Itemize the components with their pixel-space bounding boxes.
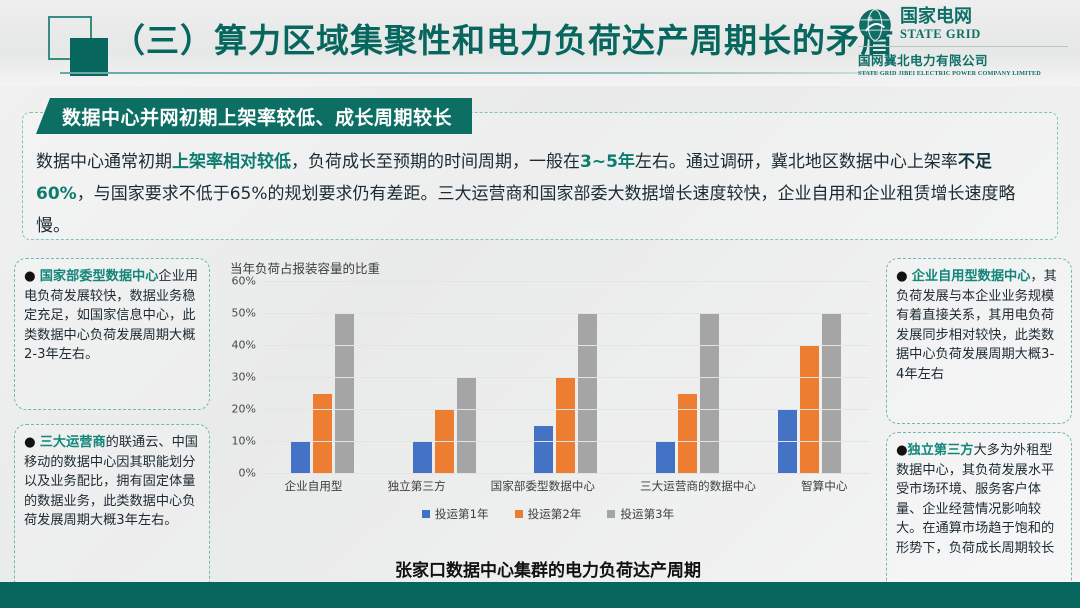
chart-bar: [335, 314, 354, 474]
company-logo: 国家电网 STATE GRID 国网冀北电力有限公司 STATE GRID JI…: [858, 8, 1068, 80]
chart-bar: [556, 378, 575, 474]
chart-bar-group: [656, 282, 719, 474]
para-seg-4: ，与国家要求不低于65%的规划要求仍有差距。三大运营商和国家部委大数据增长速度较…: [36, 184, 1016, 236]
chart-bar: [435, 410, 454, 474]
chart-y-tick-label: 40%: [232, 339, 256, 352]
para-highlight-4: 60%: [36, 184, 77, 204]
chart-gridline: 50%: [262, 313, 870, 314]
chart-legend-swatch: [515, 510, 523, 518]
chart-y-tick-label: 50%: [232, 307, 256, 320]
logo-company-en: STATE GRID: [900, 27, 981, 42]
callout-text: ● 三大运营商的联通云、中国移动的数据中心因其职能划分以及业务配比，拥有固定体量…: [24, 433, 200, 531]
chart-x-label: 企业自用型: [285, 478, 343, 494]
page-title: （三）算力区域集聚性和电力负荷达产周期长的矛盾: [112, 14, 894, 62]
chart-bar: [313, 394, 332, 474]
state-grid-globe-icon: [858, 8, 892, 42]
logo-company-cn: 国家电网: [900, 8, 981, 27]
logo-subsidiary-en: STATE GRID JIBEI ELECTRIC POWER COMPANY …: [858, 70, 1068, 77]
para-highlight-3: 不足: [958, 152, 992, 172]
callout-body: 大多为外租型数据中心，其负荷发展水平受市场环境、服务客户体量、企业经营情况影响较…: [896, 443, 1054, 556]
chart-bar: [291, 442, 310, 474]
chart-bar: [822, 314, 841, 474]
logo-divider: [858, 46, 1068, 47]
bullet-icon: ●: [24, 269, 36, 284]
para-seg-3: 左右。通过调研，冀北地区数据中心上架率: [635, 152, 958, 172]
chart-gridline: 20%: [262, 409, 870, 410]
bullet-icon: ●: [24, 435, 36, 450]
callout-box-national-ministry: ● 国家部委型数据中心企业用电负荷发展较快，数据业务稳定充足，如国家信息中心，此…: [14, 258, 210, 410]
chart-bar: [457, 378, 476, 474]
chart-bar-group: [413, 282, 476, 474]
callout-heading: 企业自用型数据中心: [912, 269, 1031, 284]
logo-subsidiary-cn: 国网冀北电力有限公司: [858, 50, 1068, 69]
callout-text: ● 企业自用型数据中心，其负荷发展与本企业业务规模有着直接关系，其用电负荷发展同…: [896, 267, 1062, 384]
chart-bar-group: [291, 282, 354, 474]
summary-paragraph: 数据中心通常初期上架率相对较低，负荷成长至预期的时间周期，一般在3~5年左右。通…: [36, 146, 1046, 242]
chart-plot-area: 0%10%20%30%40%50%60%: [262, 282, 870, 474]
chart-bar-group: [778, 282, 841, 474]
chart-legend-item[interactable]: 投运第1年: [422, 506, 489, 522]
chart-x-label: 独立第三方: [388, 478, 446, 494]
bar-chart: 当年负荷占报装容量的比重 0%10%20%30%40%50%60% 企业自用型独…: [216, 258, 880, 550]
chart-legend-label: 投运第2年: [528, 506, 582, 522]
callout-body: ，其负荷发展与本企业业务规模有着直接关系，其用电负荷发展同步相对较快，此类数据中…: [896, 269, 1057, 382]
chart-bar: [413, 442, 432, 474]
chart-legend-swatch: [422, 510, 430, 518]
para-seg-2: ，负荷成长至预期的时间周期，一般在: [291, 152, 580, 172]
chart-bar: [656, 442, 675, 474]
callout-heading: 三大运营商: [40, 435, 106, 450]
summary-banner-label: 数据中心并网初期上架率较低、成长周期较长: [62, 103, 452, 130]
title-divider: [60, 72, 880, 74]
chart-y-tick-label: 20%: [232, 403, 256, 416]
para-highlight-1: 上架率相对较低: [172, 152, 291, 172]
callout-heading: 国家部委型数据中心: [40, 269, 159, 284]
chart-gridline: 10%: [262, 441, 870, 442]
chart-legend: 投运第1年投运第2年投运第3年: [216, 506, 880, 522]
callout-heading: 独立第三方: [908, 443, 974, 458]
chart-legend-item[interactable]: 投运第3年: [607, 506, 674, 522]
chart-y-tick-label: 0%: [239, 467, 256, 480]
chart-x-label: 智算中心: [801, 478, 847, 494]
chart-caption: 张家口数据中心集群的电力负荷达产周期: [216, 556, 880, 581]
chart-y-tick-label: 30%: [232, 371, 256, 384]
callout-text: ●独立第三方大多为外租型数据中心，其负荷发展水平受市场环境、服务客户体量、企业经…: [896, 441, 1062, 558]
bullet-icon: ●: [896, 269, 908, 284]
slide-footer-bar: [0, 582, 1080, 608]
chart-legend-item[interactable]: 投运第2年: [515, 506, 582, 522]
chart-bar: [778, 410, 797, 474]
callout-box-independent-thirdparty: ●独立第三方大多为外租型数据中心，其负荷发展水平受市场环境、服务客户体量、企业经…: [886, 432, 1072, 596]
chart-gridline: 0%: [262, 473, 870, 474]
chart-bar: [578, 314, 597, 474]
chart-bar: [534, 426, 553, 474]
chart-x-label: 三大运营商的数据中心: [640, 478, 756, 494]
chart-gridline: 30%: [262, 377, 870, 378]
chart-y-tick-label: 60%: [232, 275, 256, 288]
chart-bar: [700, 314, 719, 474]
chart-y-tick-label: 10%: [232, 435, 256, 448]
summary-banner: 数据中心并网初期上架率较低、成长周期较长: [36, 98, 472, 134]
bullet-icon: ●: [896, 443, 908, 458]
chart-x-label: 国家部委型数据中心: [491, 478, 595, 494]
chart-legend-swatch: [607, 510, 615, 518]
callout-box-three-carriers: ● 三大运营商的联通云、中国移动的数据中心因其职能划分以及业务配比，拥有固定体量…: [14, 424, 210, 592]
chart-bar: [800, 346, 819, 474]
chart-legend-label: 投运第3年: [620, 506, 674, 522]
callout-text: ● 国家部委型数据中心企业用电负荷发展较快，数据业务稳定充足，如国家信息中心，此…: [24, 267, 200, 365]
chart-bar-group: [534, 282, 597, 474]
callout-box-enterprise-selfuse: ● 企业自用型数据中心，其负荷发展与本企业业务规模有着直接关系，其用电负荷发展同…: [886, 258, 1072, 424]
chart-legend-label: 投运第1年: [435, 506, 489, 522]
para-highlight-2: 3~5年: [580, 152, 635, 172]
chart-gridline: 40%: [262, 345, 870, 346]
slide-header: （三）算力区域集聚性和电力负荷达产周期长的矛盾 国家电网 STATE GRID …: [0, 0, 1080, 86]
chart-bar: [678, 394, 697, 474]
chart-x-axis-labels: 企业自用型独立第三方国家部委型数据中心三大运营商的数据中心智算中心: [262, 478, 870, 494]
para-seg-1: 数据中心通常初期: [36, 152, 172, 172]
square-filled-icon: [70, 38, 108, 76]
chart-bar-groups: [262, 282, 870, 474]
chart-gridline: 60%: [262, 281, 870, 282]
